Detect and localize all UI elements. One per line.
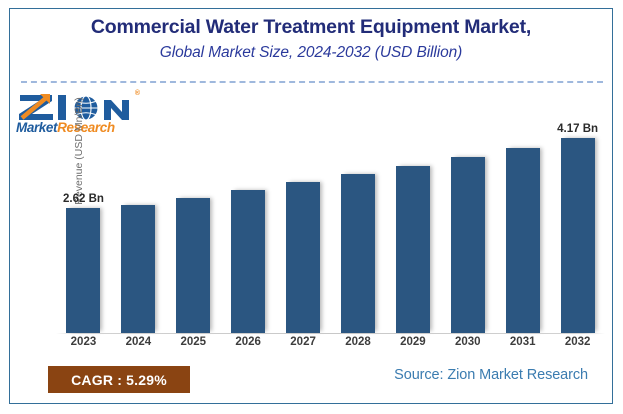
bar-value-label: 4.17 Bn	[557, 123, 598, 135]
plot-area: Revenue (USD Mn/Bn) 2.62 Bn	[56, 96, 605, 334]
source-attribution: Source: Zion Market Research	[394, 367, 588, 383]
bar-slot	[166, 96, 221, 333]
x-tick-2024: 2024	[111, 336, 166, 348]
x-tick-2027: 2027	[276, 336, 331, 348]
bar-2023[interactable]	[66, 208, 100, 333]
bar-slot	[385, 96, 440, 333]
bar-2024[interactable]	[121, 205, 155, 333]
bar-2028[interactable]	[341, 174, 375, 333]
bar-slot	[221, 96, 276, 333]
title-block: Commercial Water Treatment Equipment Mar…	[9, 16, 613, 62]
bar-slot	[276, 96, 331, 333]
bar-slot: 2.62 Bn	[56, 96, 111, 333]
cagr-badge: CAGR : 5.29%	[48, 366, 190, 393]
x-tick-2025: 2025	[166, 336, 221, 348]
x-tick-2029: 2029	[385, 336, 440, 348]
bar-slot	[331, 96, 386, 333]
bar-2030[interactable]	[451, 157, 485, 333]
bar-2025[interactable]	[176, 198, 210, 333]
bar-2032[interactable]	[561, 138, 595, 333]
x-tick-2031: 2031	[495, 336, 550, 348]
bar-slot	[440, 96, 495, 333]
bar-slot	[111, 96, 166, 333]
bar-slot: 4.17 Bn	[550, 96, 605, 333]
logo-tagline-market: Market	[16, 120, 57, 135]
chart-subtitle: Global Market Size, 2024-2032 (USD Billi…	[9, 44, 613, 62]
infographic-root: Commercial Water Treatment Equipment Mar…	[0, 0, 623, 414]
x-tick-2028: 2028	[331, 336, 386, 348]
x-tick-2023: 2023	[56, 336, 111, 348]
chart-title: Commercial Water Treatment Equipment Mar…	[9, 16, 613, 39]
x-tick-2030: 2030	[440, 336, 495, 348]
x-axis-labels: 2023 2024 2025 2026 2027 2028 2029 2030 …	[56, 336, 605, 348]
x-tick-2026: 2026	[221, 336, 276, 348]
bar-slot	[495, 96, 550, 333]
x-axis-line	[56, 333, 605, 334]
bar-2026[interactable]	[231, 190, 265, 333]
bar-2027[interactable]	[286, 182, 320, 333]
bar-series: 2.62 Bn	[56, 96, 605, 333]
bar-2029[interactable]	[396, 166, 430, 333]
dashed-divider	[21, 81, 603, 83]
bar-2031[interactable]	[506, 148, 540, 333]
bar-value-label: 2.62 Bn	[63, 193, 104, 205]
x-tick-2032: 2032	[550, 336, 605, 348]
